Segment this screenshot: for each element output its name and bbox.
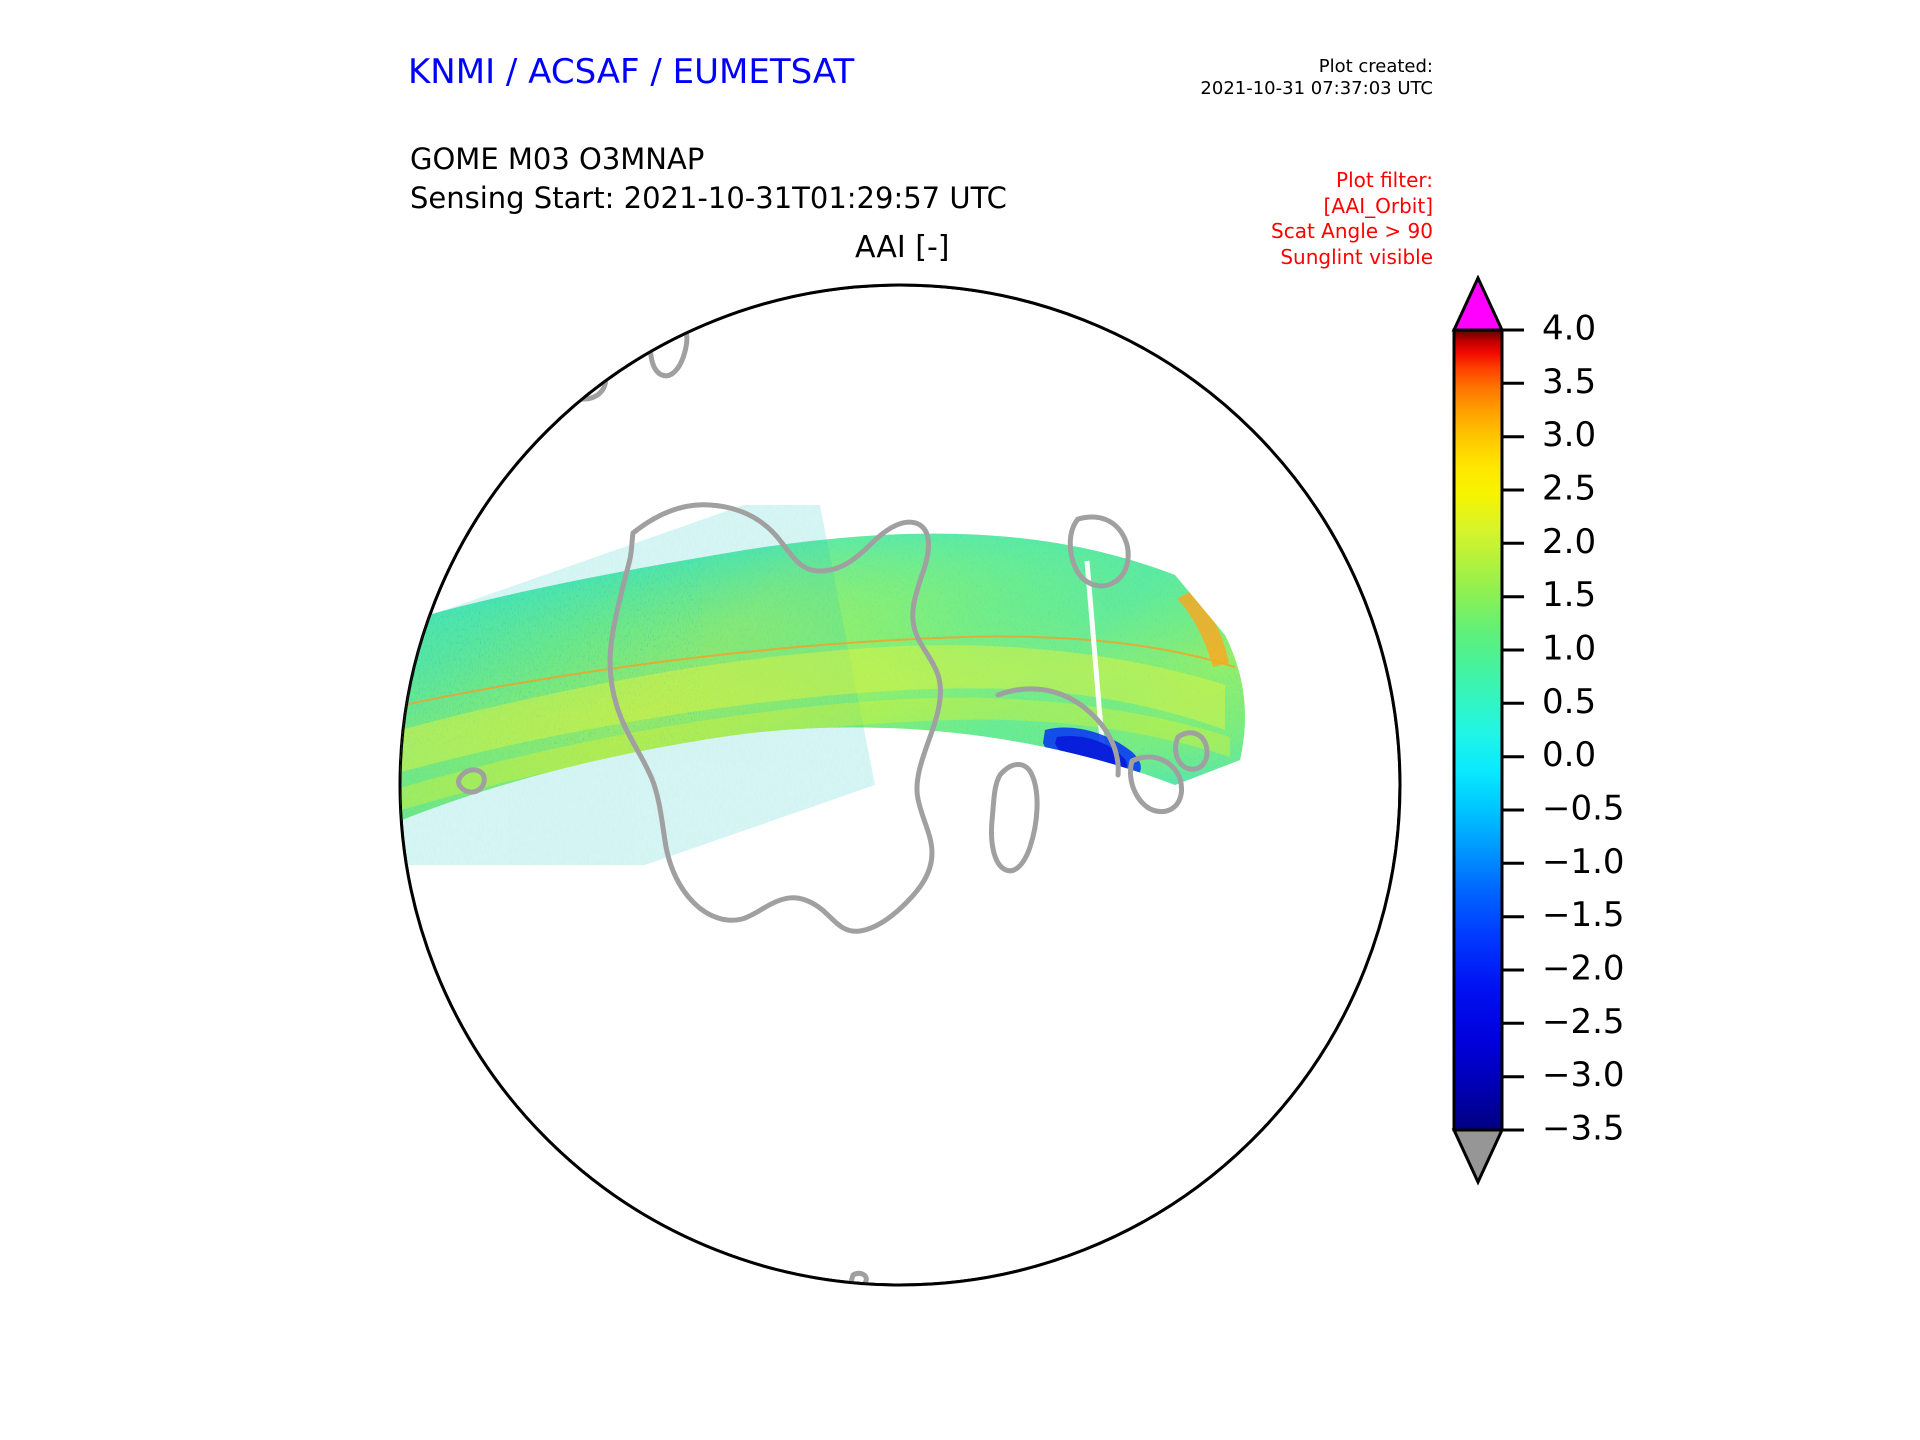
cb-label-8: 0.0 [1542, 735, 1596, 775]
figure-canvas: KNMI / ACSAF / EUMETSAT Plot created: 20… [0, 0, 1920, 1440]
plot-created-block: Plot created: 2021-10-31 07:37:03 UTC [1200, 56, 1433, 100]
cb-label-12: −2.0 [1542, 949, 1625, 989]
organisation-title: KNMI / ACSAF / EUMETSAT [408, 52, 854, 92]
cb-label-10: −1.0 [1542, 842, 1625, 882]
cb-label-5: 1.5 [1542, 575, 1596, 615]
colorbar-gradient [1454, 330, 1502, 1130]
colorbar-ticks [1502, 330, 1524, 1130]
quantity-title: AAI [-] [855, 230, 950, 265]
cb-label-1: 3.5 [1542, 362, 1596, 402]
map-globe [390, 275, 1410, 1295]
colorbar-svg: 4.0 3.5 3.0 2.5 2.0 1.5 1.0 0.5 0.0 −0.5… [1424, 275, 1854, 1345]
plot-filter-label: Plot filter: [1271, 168, 1433, 194]
plot-created-label: Plot created: [1200, 56, 1433, 78]
plot-filter-note: Sunglint visible [1271, 245, 1433, 271]
cb-label-2: 3.0 [1542, 415, 1596, 455]
plot-filter-name: [AAI_Orbit] [1271, 194, 1433, 220]
colorbar-under-arrow [1454, 1130, 1502, 1182]
product-info-block: GOME M03 O3MNAP Sensing Start: 2021-10-3… [410, 140, 1007, 218]
cb-label-4: 2.0 [1542, 522, 1596, 562]
cb-label-15: −3.5 [1542, 1109, 1625, 1149]
plot-created-time: 2021-10-31 07:37:03 UTC [1200, 78, 1433, 100]
colorbar: 4.0 3.5 3.0 2.5 2.0 1.5 1.0 0.5 0.0 −0.5… [1424, 275, 1854, 1345]
cb-label-3: 2.5 [1542, 469, 1596, 509]
cb-label-7: 0.5 [1542, 682, 1596, 722]
cb-label-13: −2.5 [1542, 1002, 1625, 1042]
cb-label-9: −0.5 [1542, 789, 1625, 829]
colorbar-tick-labels: 4.0 3.5 3.0 2.5 2.0 1.5 1.0 0.5 0.0 −0.5… [1542, 309, 1625, 1149]
cb-label-0: 4.0 [1542, 309, 1596, 349]
sensing-start: Sensing Start: 2021-10-31T01:29:57 UTC [410, 179, 1007, 218]
plot-filter-condition: Scat Angle > 90 [1271, 219, 1433, 245]
globe-svg [390, 275, 1410, 1295]
cb-label-11: −1.5 [1542, 895, 1625, 935]
product-name: GOME M03 O3MNAP [410, 140, 1007, 179]
cb-label-14: −3.0 [1542, 1055, 1625, 1095]
plot-filter-block: Plot filter: [AAI_Orbit] Scat Angle > 90… [1271, 168, 1433, 270]
cb-label-6: 1.0 [1542, 629, 1596, 669]
colorbar-over-arrow [1454, 278, 1502, 330]
